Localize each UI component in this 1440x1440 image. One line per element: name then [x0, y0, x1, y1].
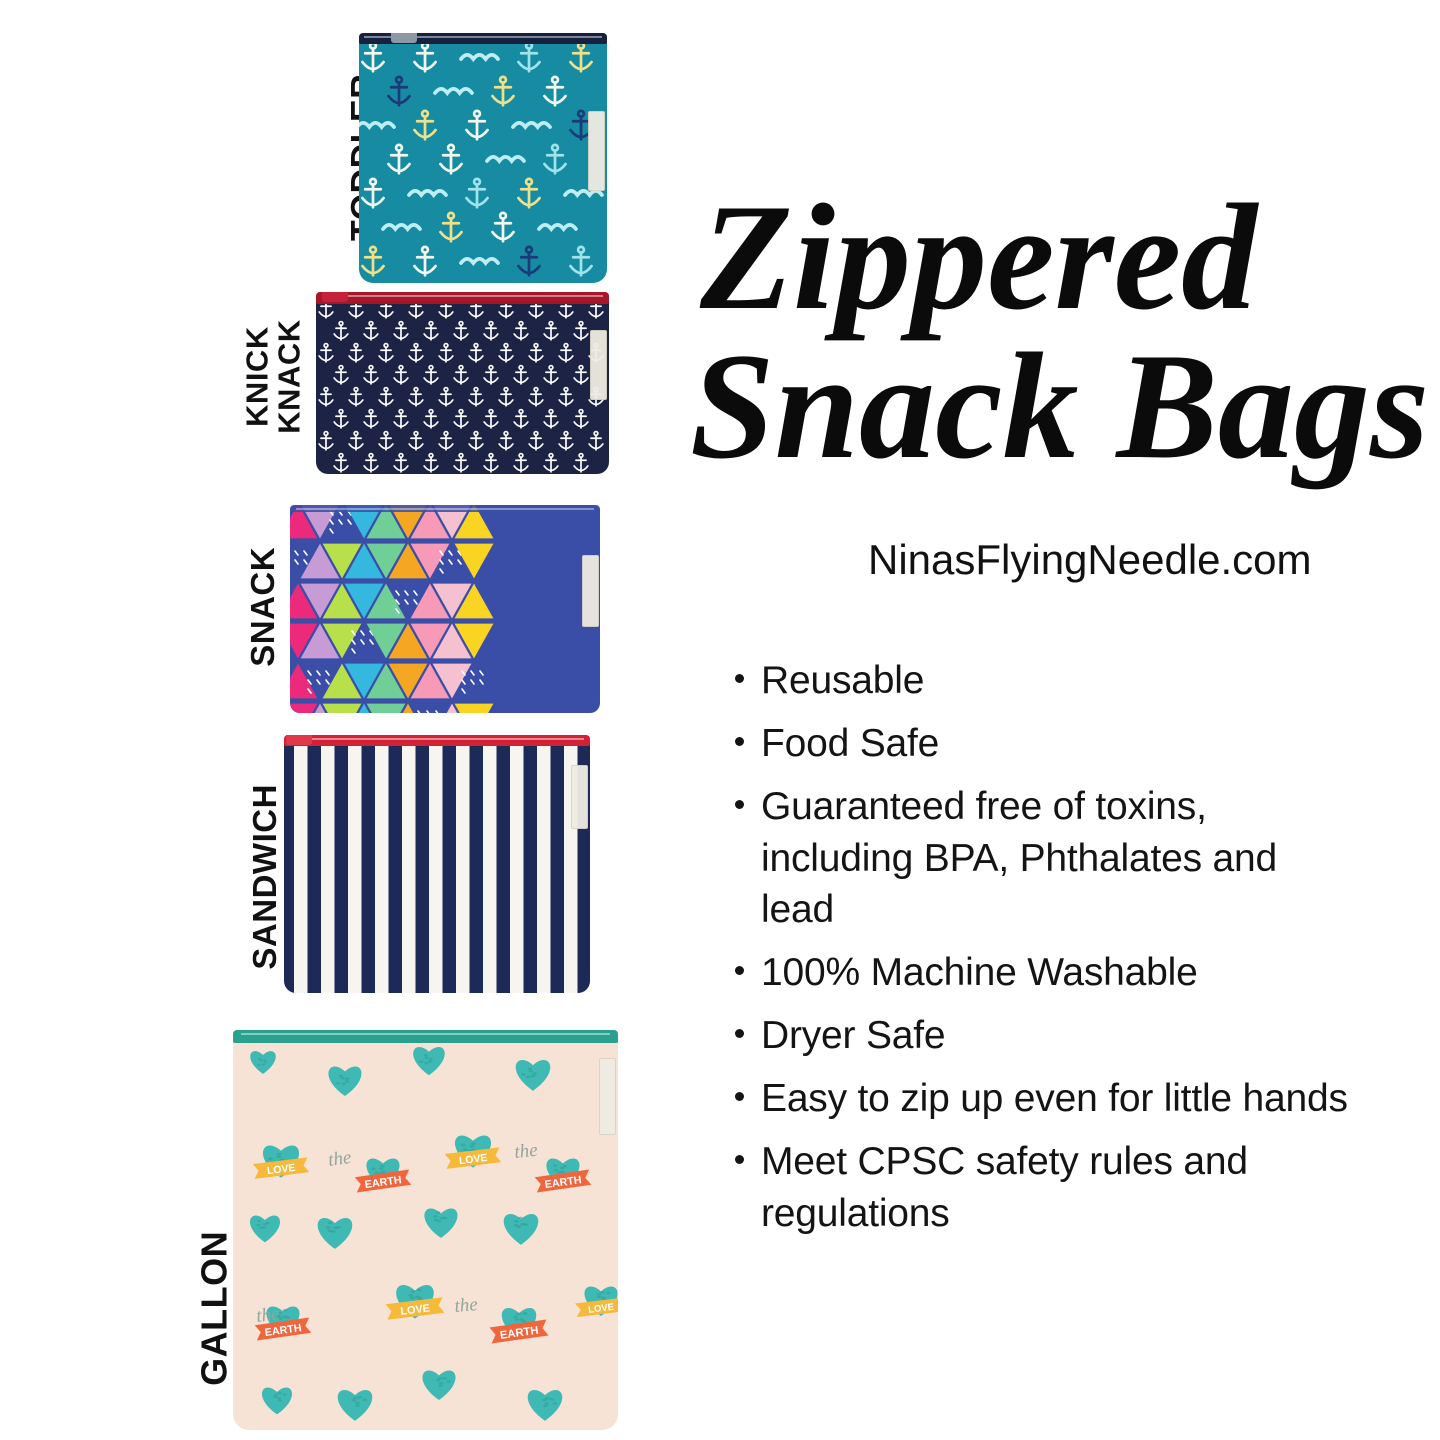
knick-knack-brand-tag — [590, 330, 607, 400]
svg-text:LOVE: LOVE — [267, 1163, 297, 1177]
knick-knack-zipper — [316, 292, 609, 304]
feature-item: Dryer Safe — [735, 1010, 1355, 1062]
feature-item: Easy to zip up even for little hands — [735, 1073, 1355, 1125]
feature-item: 100% Machine Washable — [735, 947, 1355, 999]
page-title: Zippered Snack Bags — [690, 185, 1420, 484]
svg-text:LOVE: LOVE — [400, 1302, 431, 1318]
product-image-sandwich — [284, 735, 590, 993]
title-line-2: Snack Bags — [690, 329, 1420, 484]
sandwich-brand-tag — [571, 765, 588, 829]
feature-list: Reusable Food Safe Guaranteed free of to… — [735, 655, 1355, 1251]
product-image-snack — [290, 505, 600, 713]
sandwich-zipper — [284, 735, 590, 746]
product-image-gallon: LOVEEARTHLOVEEARTHEARTHLOVEEARTHLOVEthet… — [233, 1030, 618, 1430]
product-image-knick-knack — [316, 292, 609, 474]
feature-item: Meet CPSC safety rules and regulations — [735, 1136, 1355, 1240]
feature-item: Food Safe — [735, 718, 1355, 770]
sandwich-zipper-pull — [286, 735, 312, 745]
svg-text:LOVE: LOVE — [459, 1153, 489, 1167]
gallon-brand-tag — [599, 1058, 616, 1135]
infographic-canvas: TODDLER KNICK KNACK SNACK SANDWICH GALLO… — [0, 0, 1440, 1440]
product-image-toddler — [359, 33, 607, 283]
size-label-gallon: GALLON — [197, 1208, 234, 1408]
size-label-snack: SNACK — [246, 507, 280, 707]
svg-text:the: the — [454, 1294, 479, 1317]
sandwich-fabric — [284, 735, 590, 993]
title-line-1: Zippered — [700, 185, 1420, 329]
knick-knack-zipper-pull — [322, 292, 348, 302]
toddler-fabric — [359, 33, 607, 283]
snack-fabric — [290, 505, 600, 713]
svg-text:the: the — [513, 1140, 538, 1163]
website-url[interactable]: NinasFlyingNeedle.com — [868, 536, 1312, 584]
size-label-knick-knack: KNICK KNACK — [241, 277, 304, 477]
snack-brand-tag — [582, 555, 599, 627]
gallon-fabric: LOVEEARTHLOVEEARTHEARTHLOVEEARTHLOVEthet… — [233, 1030, 618, 1430]
gallon-zipper — [233, 1030, 618, 1043]
toddler-zipper-pull — [391, 33, 417, 43]
toddler-brand-tag — [588, 111, 605, 191]
size-label-sandwich: SANDWICH — [248, 777, 282, 977]
feature-item: Guaranteed free of toxins, including BPA… — [735, 781, 1355, 937]
svg-text:the: the — [255, 1303, 281, 1327]
snack-zipper — [290, 505, 600, 512]
knick-knack-fabric — [316, 292, 609, 474]
svg-text:the: the — [327, 1147, 353, 1171]
svg-text:LOVE: LOVE — [588, 1302, 615, 1316]
feature-item: Reusable — [735, 655, 1355, 707]
